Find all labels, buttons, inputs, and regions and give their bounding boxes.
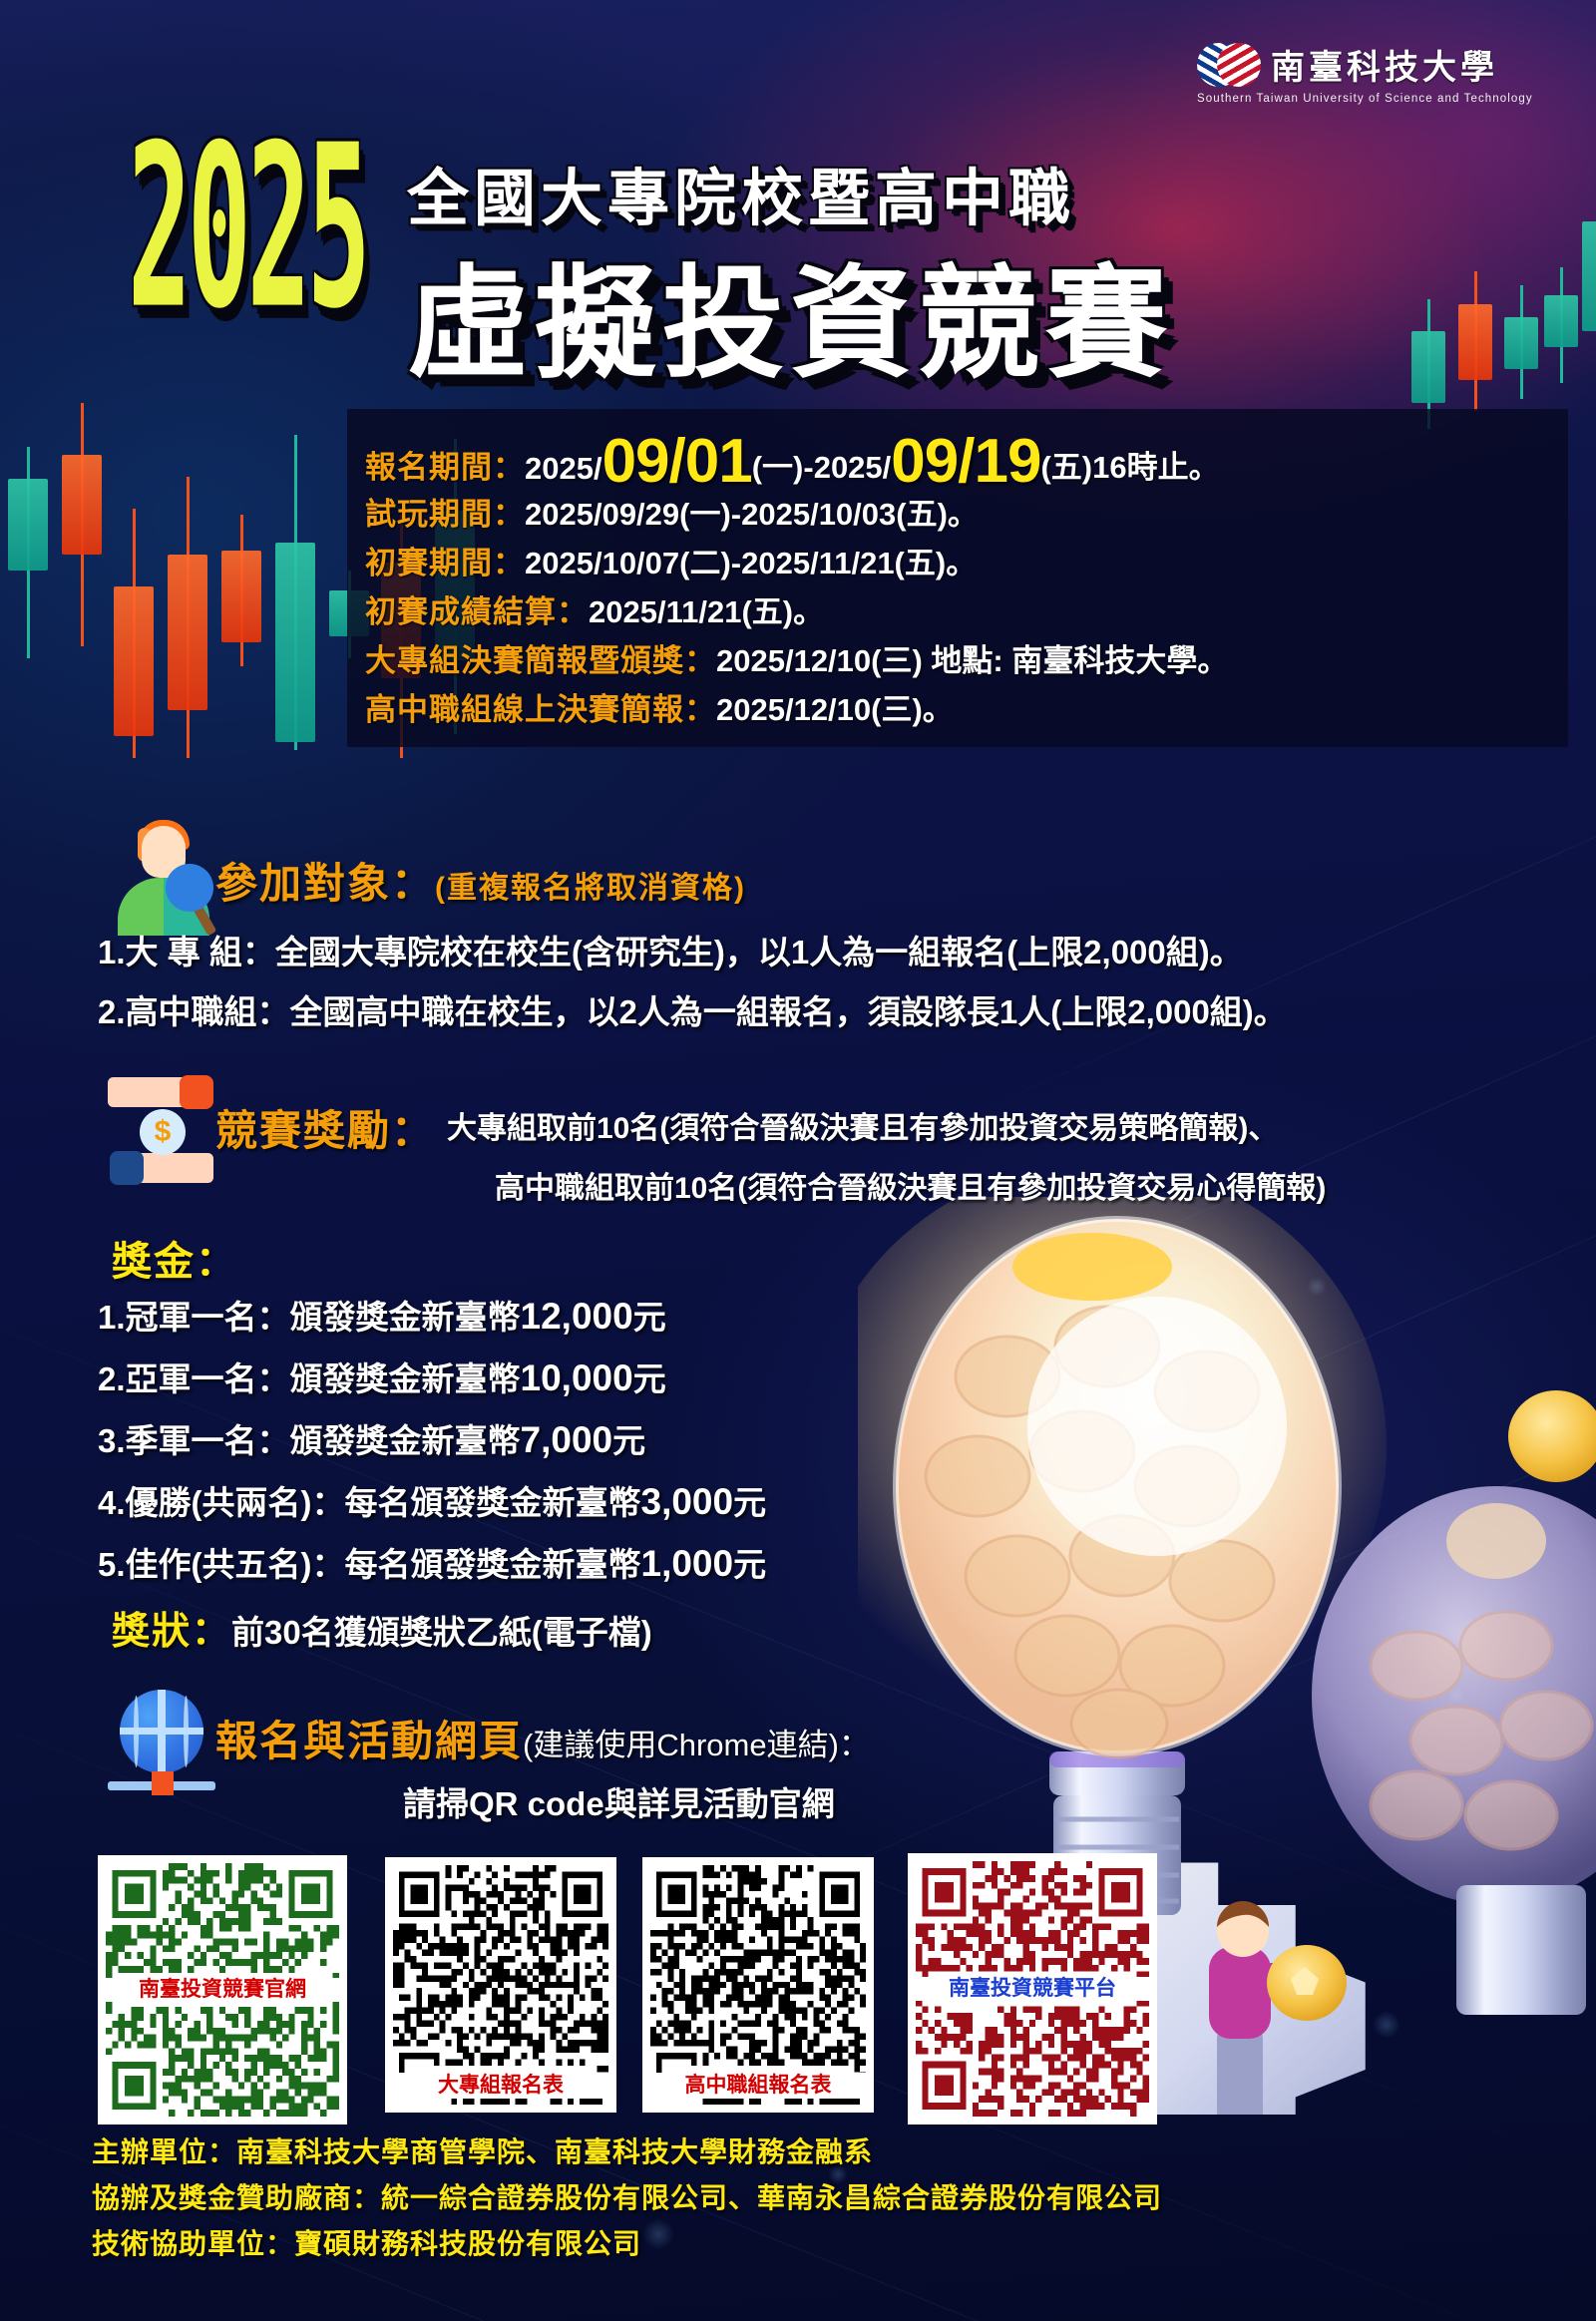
prize-item-third: 3.季軍一名：頒發獎金新臺幣7,000元 <box>98 1414 645 1462</box>
globe-icon <box>104 1686 219 1801</box>
hands-coin-icon: $ <box>104 1075 223 1203</box>
schedule-label: 高中職組線上決賽簡報： <box>365 684 716 729</box>
prize-item-runnerup: 2.亞軍一名：頒發獎金新臺幣10,000元 <box>98 1353 666 1400</box>
background-glow-dot <box>1239 1588 1255 1604</box>
background-glow-dot <box>1373 2011 1400 2039</box>
schedule-value-pre: 2025/ <box>525 451 602 487</box>
poster-root: 南臺科技大學 Southern Taiwan University of Sci… <box>0 0 1596 2321</box>
schedule-row-trial: 試玩期間： 2025/09/29(一)-2025/10/03(五)。 <box>365 489 1550 534</box>
prize-unit: 元 <box>633 1299 666 1336</box>
dollar-sign-icon: $ <box>140 1109 186 1155</box>
schedule-start-date: 09/01 <box>602 437 752 487</box>
prize-unit: 元 <box>612 1422 645 1459</box>
background-glow-dot <box>1307 1277 1327 1297</box>
prize-amount: 3,000 <box>641 1481 734 1522</box>
schedule-label: 大專組決賽簡報暨頒獎： <box>365 635 716 680</box>
prize-amount: 7,000 <box>521 1419 613 1460</box>
schedule-value: 2025/12/10(三) 地點: 南臺科技大學。 <box>716 635 1228 680</box>
qr-code-label: 南臺投資競賽官網 <box>98 1978 347 2002</box>
prize-rank: 5.佳作(共五名)：每名頒發獎金新臺幣 <box>98 1546 641 1583</box>
prize-unit: 元 <box>733 1546 766 1583</box>
certificate-row: 獎狀：前30名獲頒獎狀乙紙(電子檔) <box>112 1600 652 1655</box>
prize-unit: 元 <box>733 1484 766 1521</box>
logo-english-name: Southern Taiwan University of Science an… <box>1197 93 1526 105</box>
logo-mark-icon <box>1197 43 1261 87</box>
award-line-college: 大專組取前10名(須符合晉級決賽且有參加投資交易策略簡報)、 <box>447 1103 1278 1147</box>
website-heading-note: (建議使用Chrome連結)： <box>523 1728 870 1762</box>
page-title-year: 2025 <box>128 128 366 329</box>
background-glow-dot <box>642 2218 674 2250</box>
candlestick-body <box>62 455 102 555</box>
schedule-row-college-final: 大專組決賽簡報暨頒獎： 2025/12/10(三) 地點: 南臺科技大學。 <box>365 635 1550 680</box>
qr-code-label: 南臺投資競賽平台 <box>908 1977 1157 2001</box>
background-diagonal-line <box>898 978 1596 1547</box>
candlestick-body <box>8 479 48 571</box>
qr-code-matrix <box>650 1865 866 2105</box>
university-logo: 南臺科技大學 Southern Taiwan University of Sci… <box>1197 40 1526 105</box>
schedule-panel: 報名期間： 2025/ 09/01 (一)-2025/ 09/19 (五)16時… <box>347 409 1568 747</box>
participants-heading: 參加對象：(重複報名將取消資格) <box>215 850 746 911</box>
website-heading-text: 報名與活動網頁 <box>215 1718 523 1764</box>
award-line-highschool: 高中職組取前10名(須符合晉級決賽且有參加投資交易心得簡報) <box>495 1163 1326 1207</box>
background-glow-dot <box>1508 1917 1524 1933</box>
certificate-text: 前30名獲頒獎狀乙紙(電子檔) <box>231 1614 652 1651</box>
prize-item-honorable: 5.佳作(共五名)：每名頒發獎金新臺幣1,000元 <box>98 1538 766 1586</box>
candlestick-body <box>1458 304 1492 380</box>
page-subtitle: 全國大專院校暨高中職 <box>407 148 1075 237</box>
prize-amount: 10,000 <box>521 1357 633 1398</box>
candlestick-body <box>1504 317 1538 369</box>
person-magnifier-icon <box>104 820 221 936</box>
footer-sponsor: 協辦及獎金贊助廠商：統一綜合證券股份有限公司、華南永昌綜合證券股份有限公司 <box>92 2176 1162 2216</box>
schedule-value-mid: (一)-2025/ <box>752 442 892 487</box>
prize-rank: 1.冠軍一名：頒發獎金新臺幣 <box>98 1299 521 1336</box>
qr-code-label: 高中職組報名表 <box>642 2073 874 2099</box>
website-scan-instruction: 請掃QR code與詳見活動官網 <box>403 1777 835 1825</box>
prize-rank: 3.季軍一名：頒發獎金新臺幣 <box>98 1422 521 1459</box>
prize-rank: 2.亞軍一名：頒發獎金新臺幣 <box>98 1360 521 1397</box>
background-diagonal-line <box>898 779 1596 1348</box>
candlestick-body <box>1544 295 1578 347</box>
background-diagonal-line <box>898 1188 1596 1756</box>
candlestick-body <box>1582 221 1596 331</box>
prize-item-merit: 4.優勝(共兩名)：每名頒發獎金新臺幣3,000元 <box>98 1476 766 1524</box>
participants-heading-text: 參加對象： <box>215 860 435 907</box>
qr-code-matrix <box>393 1865 608 2105</box>
schedule-value: 2025/09/29(一)-2025/10/03(五)。 <box>525 489 979 534</box>
prize-unit: 元 <box>633 1360 666 1397</box>
prize-item-champion: 1.冠軍一名：頒發獎金新臺幣12,000元 <box>98 1291 666 1339</box>
logo-chinese-name: 南臺科技大學 <box>1271 40 1498 89</box>
participants-item-college: 1.大 專 組：全國大專院校在校生(含研究生)，以1人為一組報名(上限2,000… <box>98 926 1243 973</box>
background-glow-dot <box>1217 2045 1237 2065</box>
prize-amount: 12,000 <box>521 1296 633 1337</box>
schedule-label: 試玩期間： <box>365 489 525 534</box>
page-title: 虛擬投資競賽 <box>407 225 1173 402</box>
schedule-label: 初賽成績結算： <box>365 586 589 631</box>
certificate-heading: 獎狀： <box>112 1611 231 1653</box>
schedule-value-post: (五)16時止。 <box>1040 442 1219 487</box>
footer-organizer: 主辦單位：南臺科技大學商管學院、南臺科技大學財務金融系 <box>92 2130 873 2170</box>
schedule-row-highschool-final: 高中職組線上決賽簡報： 2025/12/10(三)。 <box>365 684 1550 729</box>
schedule-label: 初賽期間： <box>365 538 525 582</box>
prize-amount: 1,000 <box>641 1543 734 1584</box>
schedule-row-settlement: 初賽成績結算： 2025/11/21(五)。 <box>365 586 1550 631</box>
candlestick-body <box>168 555 207 710</box>
award-heading: 競賽獎勵： <box>215 1097 435 1158</box>
schedule-end-date: 09/19 <box>891 437 1040 487</box>
schedule-value: 2025/11/21(五)。 <box>589 586 824 631</box>
footer-tech-support: 技術協助單位：寶碩財務科技股份有限公司 <box>92 2222 641 2262</box>
schedule-label: 報名期間： <box>365 442 525 487</box>
website-heading: 報名與活動網頁(建議使用Chrome連結)： <box>215 1708 870 1768</box>
schedule-row-preliminary: 初賽期間： 2025/10/07(二)-2025/11/21(五)。 <box>365 538 1550 582</box>
candlestick-body <box>114 586 154 736</box>
schedule-value: 2025/12/10(三)。 <box>716 684 954 729</box>
candlestick-body <box>221 551 261 642</box>
participants-item-highschool: 2.高中職組：全國高中職在校生，以2人為一組報名，須設隊長1人(上限2,000組… <box>98 985 1287 1033</box>
person-with-coin <box>1195 1901 1347 2115</box>
background-glow-dot <box>1447 1687 1465 1705</box>
candlestick-body <box>1411 331 1445 403</box>
schedule-row-registration: 報名期間： 2025/ 09/01 (一)-2025/ 09/19 (五)16時… <box>365 423 1550 487</box>
schedule-value: 2025/10/07(二)-2025/11/21(五)。 <box>525 538 977 582</box>
background-glow-dot <box>972 1510 984 1522</box>
prize-heading: 獎金： <box>112 1229 237 1287</box>
prize-rank: 4.優勝(共兩名)：每名頒發獎金新臺幣 <box>98 1484 641 1521</box>
background-glow-dot <box>1110 1389 1124 1403</box>
qr-code-label: 大專組報名表 <box>385 2073 616 2099</box>
participants-heading-note: (重複報名將取消資格) <box>435 872 746 905</box>
candlestick-body <box>275 543 315 742</box>
